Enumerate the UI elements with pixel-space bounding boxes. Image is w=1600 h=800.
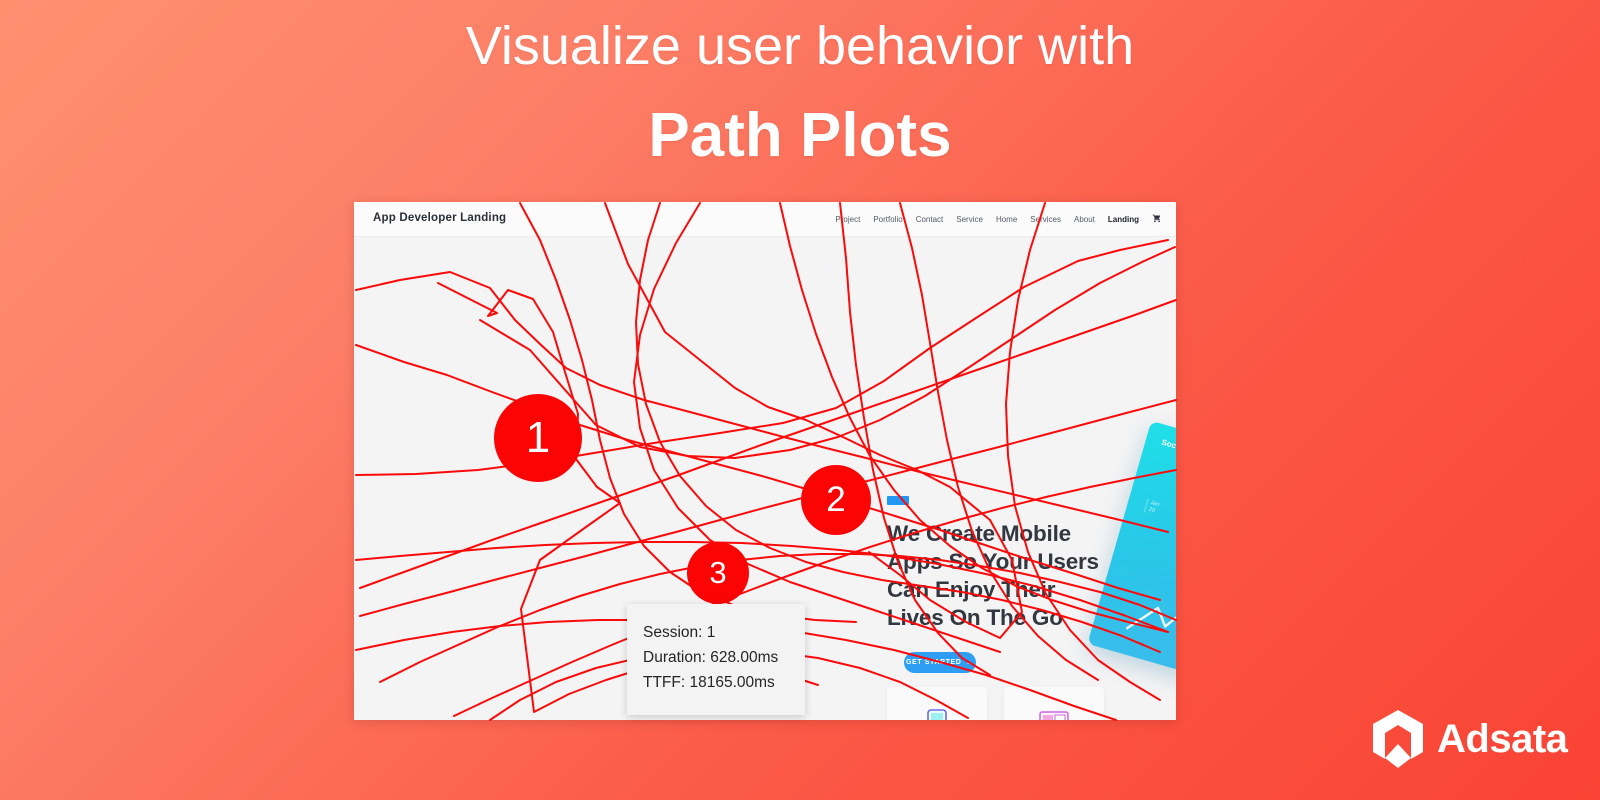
get-started-button[interactable]: GET STARTED → — [904, 652, 976, 673]
session-tooltip: Session: 1 Duration: 628.00ms TTFF: 1816… — [627, 604, 805, 715]
nav-item-project[interactable]: Project — [835, 215, 860, 224]
promo-banner: Visualize user behavior with Path Plots … — [0, 0, 1600, 800]
nav-item-services[interactable]: Services — [1030, 215, 1061, 224]
tooltip-session: Session: 1 — [643, 620, 805, 645]
nav-item-portfolio[interactable]: Portfolio — [873, 215, 902, 224]
site-nav: Project Portfolio Contact Service Home S… — [835, 213, 1162, 225]
path-marker-2[interactable]: 2 — [801, 465, 871, 535]
brand-logo: Adsata — [1370, 708, 1567, 770]
site-logo: App Developer Landing — [373, 212, 506, 224]
feature-card-user-experience[interactable]: USER EXPERIENCE — [1004, 687, 1104, 720]
axis-tick: Jan 20 — [1144, 499, 1160, 516]
nav-item-contact[interactable]: Contact — [916, 215, 944, 224]
nav-item-service[interactable]: Service — [956, 215, 983, 224]
headline-primary: Visualize user behavior with — [0, 18, 1600, 75]
get-started-label: GET STARTED — [906, 659, 961, 666]
tooltip-duration: Duration: 628.00ms — [643, 645, 805, 670]
path-marker-3[interactable]: 3 — [687, 542, 749, 604]
cart-icon[interactable] — [1152, 213, 1162, 225]
adsata-mark-icon — [1370, 708, 1426, 770]
headline-block: Visualize user behavior with Path Plots — [0, 18, 1600, 168]
hero-title: We Create Mobile Apps So Your Users Can … — [887, 520, 1117, 633]
card-axis-ticks: Jan 20 Feb 20 Mar 20 — [1144, 466, 1176, 553]
nav-item-landing[interactable]: Landing — [1108, 215, 1139, 224]
marker-number: 3 — [709, 555, 726, 591]
site-header: App Developer Landing Project Portfolio … — [354, 202, 1176, 237]
path-marker-1[interactable]: 1 — [494, 394, 582, 482]
nav-item-home[interactable]: Home — [996, 215, 1017, 224]
tooltip-ttff: TTFF: 18165.00ms — [643, 670, 805, 695]
card-title: Social Following — [1161, 438, 1176, 464]
headline-secondary: Path Plots — [0, 103, 1600, 168]
brand-wordmark: Adsata — [1437, 717, 1567, 762]
mobile-tap-icon — [920, 707, 954, 720]
marker-number: 2 — [826, 480, 845, 520]
wireframe-icon — [1037, 707, 1071, 720]
marker-number: 1 — [526, 413, 550, 463]
hero-badge — [887, 496, 909, 505]
nav-item-about[interactable]: About — [1074, 215, 1095, 224]
arrow-right-icon: → — [965, 658, 974, 667]
feature-card-mobile-apps[interactable]: MOBILE APPS — [887, 687, 987, 720]
